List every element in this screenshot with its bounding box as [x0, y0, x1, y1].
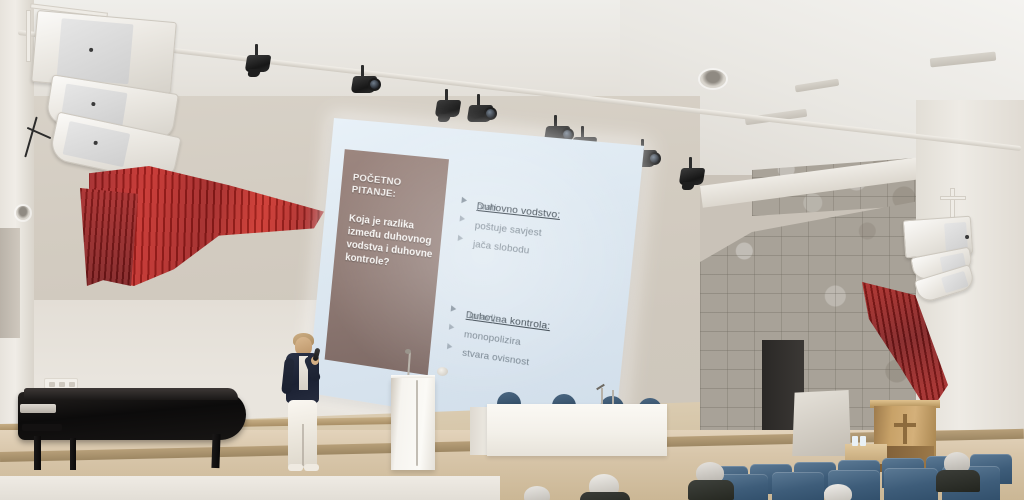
screenshot-root: POČETNO PITANJE: Koja je razlika između … [0, 0, 1024, 500]
slide-left-panel: POČETNO PITANJE: Koja je razlika između … [325, 149, 449, 375]
bullet-label: jača slobodu [473, 239, 530, 256]
slide-heading: POČETNO PITANJE: [351, 172, 440, 206]
piano-leg [34, 436, 41, 470]
piano-lid [24, 388, 238, 400]
presenter-leg-split [302, 424, 304, 466]
cross-icon [894, 423, 916, 427]
bullet-group-2: Duhovna kontrola: upravlja monopolizira … [444, 302, 610, 382]
ceiling-microphone-icon [437, 367, 448, 376]
bullet-label: upravlja [466, 309, 502, 324]
stage-front-wall [0, 476, 500, 500]
piano-keyboard [20, 404, 56, 413]
bullet-group-1: Duhovno vodstvo: prati poštuje savjest j… [455, 194, 622, 270]
auditorium-seat [884, 468, 938, 500]
audience-member-head [824, 484, 852, 500]
pillar-left-shadow [0, 228, 20, 338]
triangle-marker-icon [461, 196, 467, 203]
slide: POČETNO PITANJE: Koja je razlika između … [324, 139, 627, 412]
microphone-cable [416, 380, 418, 466]
audience-member-coat [688, 480, 734, 500]
piano-leg [70, 438, 76, 470]
audience-member-head [524, 486, 550, 500]
triangle-marker-icon [447, 343, 453, 350]
audience-member-coat [580, 492, 630, 500]
triangle-marker-icon [451, 305, 457, 312]
piano-bench [22, 424, 62, 431]
bullet-label: stvara ovisnost [462, 347, 530, 367]
recessed-downlight-icon [700, 70, 726, 88]
cross-icon [903, 414, 907, 444]
bullet-label: prati [476, 201, 497, 213]
triangle-marker-icon [449, 324, 455, 331]
curtain-left-drop [80, 188, 138, 286]
triangle-marker-icon [458, 234, 464, 241]
slide-bullets: Duhovno vodstvo: prati poštuje savjest j… [441, 150, 626, 412]
microphone-capsule-icon [405, 349, 411, 354]
presenter-shoe [304, 464, 319, 471]
auditorium-seat [772, 472, 824, 500]
piano-leg [211, 434, 220, 468]
presenter-shoe [288, 464, 303, 471]
triangle-marker-icon [460, 215, 466, 222]
water-bottles [852, 436, 872, 446]
panel-table [487, 404, 667, 456]
lectern [391, 378, 435, 470]
security-camera-icon [16, 206, 30, 220]
projection-screen: POČETNO PITANJE: Koja je razlika između … [308, 118, 644, 442]
audience-member-coat [936, 470, 980, 492]
covered-furniture [791, 390, 851, 456]
slide-question: Koja je razlika između duhovnog vodstva … [345, 212, 438, 275]
